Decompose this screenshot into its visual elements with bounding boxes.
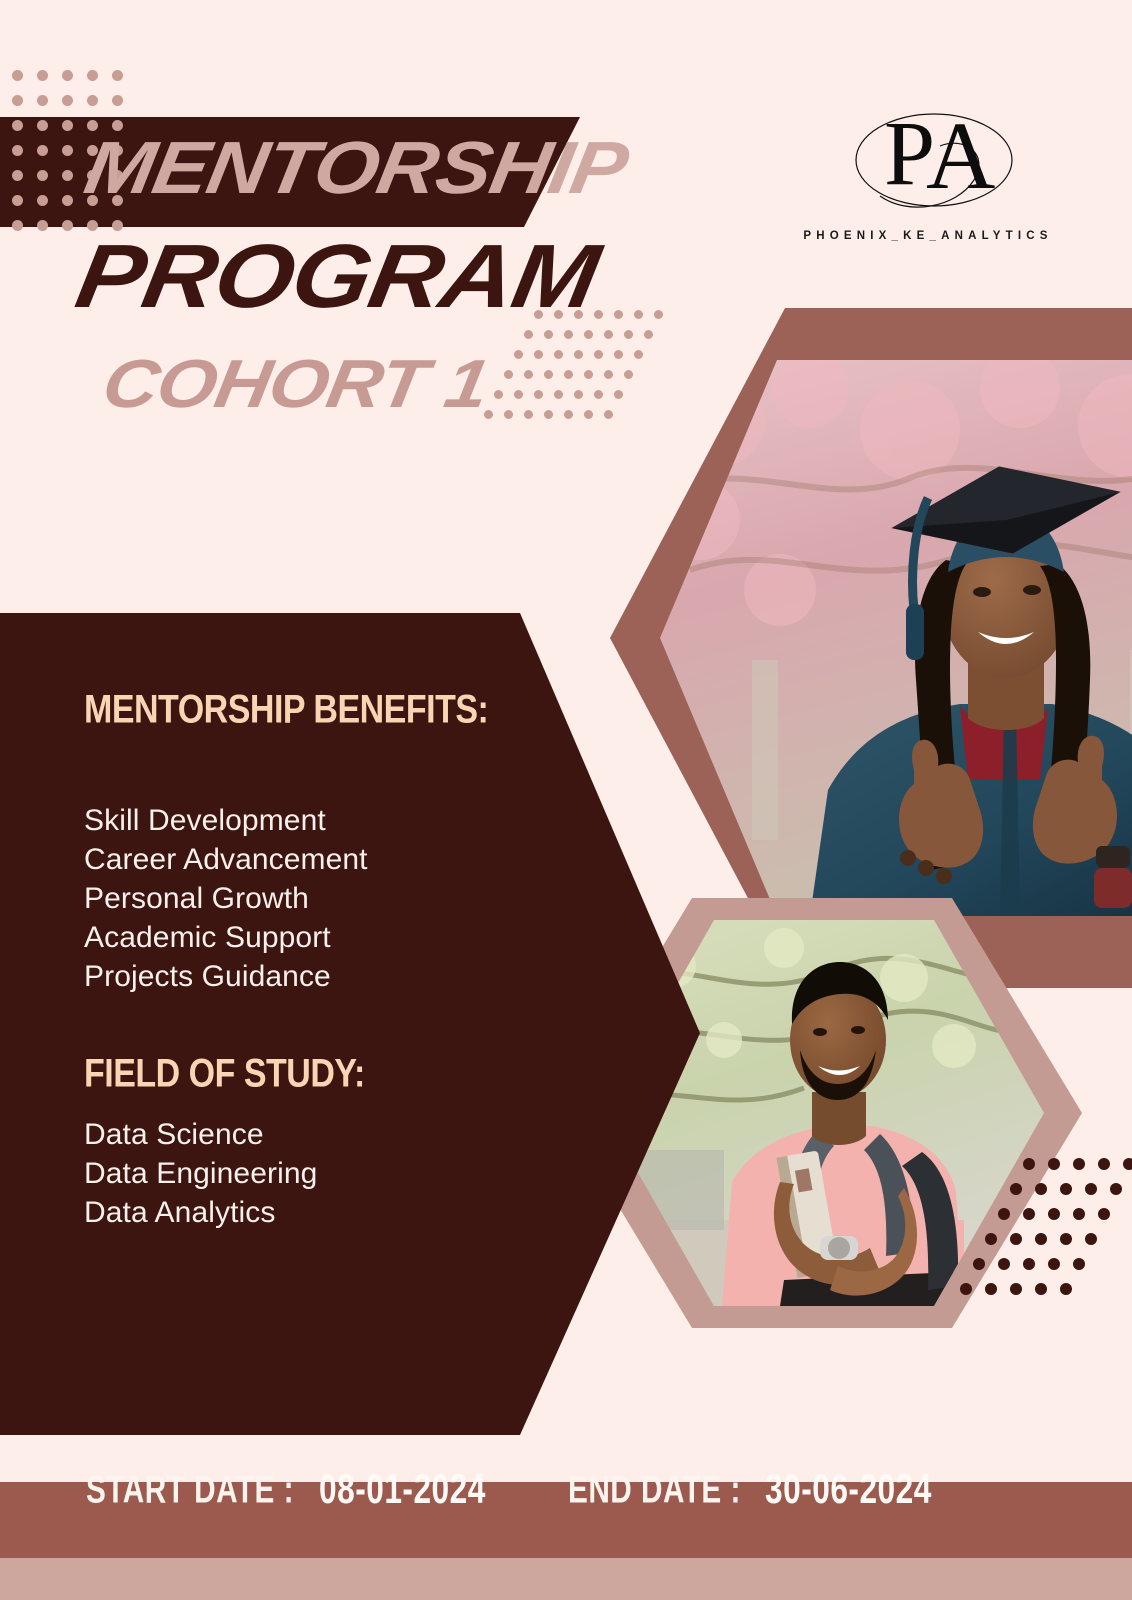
decorative-dot xyxy=(12,220,23,231)
decorative-dot xyxy=(524,370,533,379)
decorative-dot xyxy=(524,410,533,419)
decorative-dot xyxy=(554,390,563,399)
end-date-value: 30-06-2024 xyxy=(765,1465,932,1513)
list-item: Data Science xyxy=(84,1115,317,1154)
decorative-dot xyxy=(1010,1233,1022,1245)
decorative-dot xyxy=(1048,1158,1060,1170)
decorative-dot xyxy=(112,70,123,81)
decorative-dot xyxy=(37,170,48,181)
list-item: Personal Growth xyxy=(84,879,368,918)
decorative-dot xyxy=(534,350,543,359)
decorative-dot xyxy=(614,310,623,319)
decorative-dot xyxy=(644,330,653,339)
decorative-dot xyxy=(1110,1183,1122,1195)
decorative-dot xyxy=(1085,1183,1097,1195)
decorative-dot xyxy=(1073,1158,1085,1170)
decorative-dot xyxy=(604,410,613,419)
list-item: Academic Support xyxy=(84,918,368,957)
decorative-dot xyxy=(973,1258,985,1270)
decorative-dot xyxy=(634,350,643,359)
decorative-dot xyxy=(62,95,73,106)
headline-line-program: PROGRAM xyxy=(70,232,605,322)
pa-monogram-icon: P A xyxy=(788,88,1068,228)
decorative-dot xyxy=(534,390,543,399)
decorative-dot xyxy=(584,410,593,419)
decorative-dot xyxy=(614,350,623,359)
decorative-dot xyxy=(37,70,48,81)
headline-line-mentorship: MENTORSHIP xyxy=(79,131,632,205)
decorative-dot xyxy=(564,330,573,339)
decorative-dot xyxy=(1060,1183,1072,1195)
decorative-dot xyxy=(12,70,23,81)
decorative-dot xyxy=(494,390,503,399)
decorative-dot xyxy=(594,390,603,399)
decorative-dot xyxy=(1073,1258,1085,1270)
start-date-label: START DATE : xyxy=(86,1468,294,1513)
decorative-dot xyxy=(37,145,48,156)
decorative-dot xyxy=(37,195,48,206)
svg-text:A: A xyxy=(926,102,995,209)
list-item: Data Engineering xyxy=(84,1154,317,1193)
decorative-dot xyxy=(614,390,623,399)
decorative-dot xyxy=(624,370,633,379)
decorative-dot xyxy=(624,330,633,339)
decorative-dot xyxy=(594,310,603,319)
decorative-dot xyxy=(62,170,73,181)
decorative-dot xyxy=(584,370,593,379)
decorative-dot xyxy=(62,195,73,206)
decorative-dot xyxy=(1035,1283,1047,1295)
decorative-dot xyxy=(1048,1258,1060,1270)
decorative-dot xyxy=(1060,1283,1072,1295)
decorative-dot xyxy=(112,95,123,106)
decorative-dot xyxy=(1098,1208,1110,1220)
decorative-dot xyxy=(504,370,513,379)
decorative-dot xyxy=(544,330,553,339)
field-of-study-list: Data Science Data Engineering Data Analy… xyxy=(84,1115,317,1232)
decorative-dot xyxy=(554,350,563,359)
decorative-dot xyxy=(12,170,23,181)
decorative-dot xyxy=(62,70,73,81)
decorative-dot xyxy=(514,390,523,399)
decorative-dot xyxy=(12,145,23,156)
decorative-dot xyxy=(544,410,553,419)
decorative-dot xyxy=(1123,1158,1132,1170)
decorative-dot xyxy=(1048,1208,1060,1220)
decorative-dot xyxy=(564,370,573,379)
footer-dates: START DATE : 08-01-2024 END DATE : 30-06… xyxy=(86,1470,938,1508)
decorative-dot xyxy=(37,95,48,106)
decorative-dot xyxy=(1060,1233,1072,1245)
list-item: Career Advancement xyxy=(84,840,368,879)
content-panel xyxy=(0,613,700,1435)
benefits-heading: MENTORSHIP BENEFITS: xyxy=(84,687,488,733)
decorative-dot xyxy=(574,390,583,399)
decorative-dot xyxy=(654,310,663,319)
headline-line-cohort: COHORT 1 xyxy=(98,350,493,418)
decorative-dot xyxy=(524,330,533,339)
decorative-dot xyxy=(12,95,23,106)
decorative-dot xyxy=(1035,1233,1047,1245)
decorative-dot xyxy=(544,370,553,379)
decorative-dot xyxy=(62,220,73,231)
decorative-dot xyxy=(37,220,48,231)
list-item: Skill Development xyxy=(84,801,368,840)
decorative-dot xyxy=(1035,1183,1047,1195)
decorative-dot xyxy=(87,95,98,106)
decorative-dot xyxy=(62,145,73,156)
decorative-dot xyxy=(1085,1233,1097,1245)
brand-logo: P A PHOENIX_KE_ANALYTICS xyxy=(788,88,1068,263)
list-item: Data Analytics xyxy=(84,1193,317,1232)
decorative-dot-grid-center xyxy=(484,310,704,440)
benefits-list: Skill Development Career Advancement Per… xyxy=(84,801,368,996)
decorative-dot xyxy=(985,1283,997,1295)
decorative-dot xyxy=(960,1283,972,1295)
decorative-dot-grid-bottom-right xyxy=(960,1158,1132,1318)
decorative-dot xyxy=(37,120,48,131)
end-date-label: END DATE : xyxy=(568,1468,741,1513)
decorative-dot xyxy=(998,1258,1010,1270)
decorative-dot xyxy=(1023,1208,1035,1220)
decorative-dot xyxy=(564,410,573,419)
decorative-dot xyxy=(594,350,603,359)
decorative-dot xyxy=(604,330,613,339)
decorative-dot xyxy=(87,70,98,81)
decorative-dot xyxy=(1023,1258,1035,1270)
list-item: Projects Guidance xyxy=(84,957,368,996)
decorative-dot xyxy=(484,410,493,419)
field-of-study-heading: FIELD OF STUDY: xyxy=(84,1051,365,1097)
decorative-dot xyxy=(604,370,613,379)
decorative-dot xyxy=(1010,1283,1022,1295)
decorative-dot xyxy=(584,330,593,339)
decorative-dot xyxy=(1073,1208,1085,1220)
decorative-dot xyxy=(1023,1158,1035,1170)
decorative-dot xyxy=(504,410,513,419)
footer-bottom-strip xyxy=(0,1558,1132,1600)
decorative-dot xyxy=(514,350,523,359)
decorative-dot xyxy=(1098,1158,1110,1170)
decorative-dot xyxy=(12,120,23,131)
decorative-dot xyxy=(634,310,643,319)
decorative-dot xyxy=(1010,1183,1022,1195)
start-date-value: 08-01-2024 xyxy=(319,1465,486,1513)
brand-wordmark: PHOENIX_KE_ANALYTICS xyxy=(788,230,1068,242)
poster-canvas: MENTORSHIP PROGRAM COHORT 1 P A PHOENIX_… xyxy=(0,0,1132,1600)
decorative-dot xyxy=(998,1208,1010,1220)
decorative-dot xyxy=(985,1233,997,1245)
decorative-dot xyxy=(62,120,73,131)
decorative-dot xyxy=(12,195,23,206)
decorative-dot xyxy=(574,350,583,359)
